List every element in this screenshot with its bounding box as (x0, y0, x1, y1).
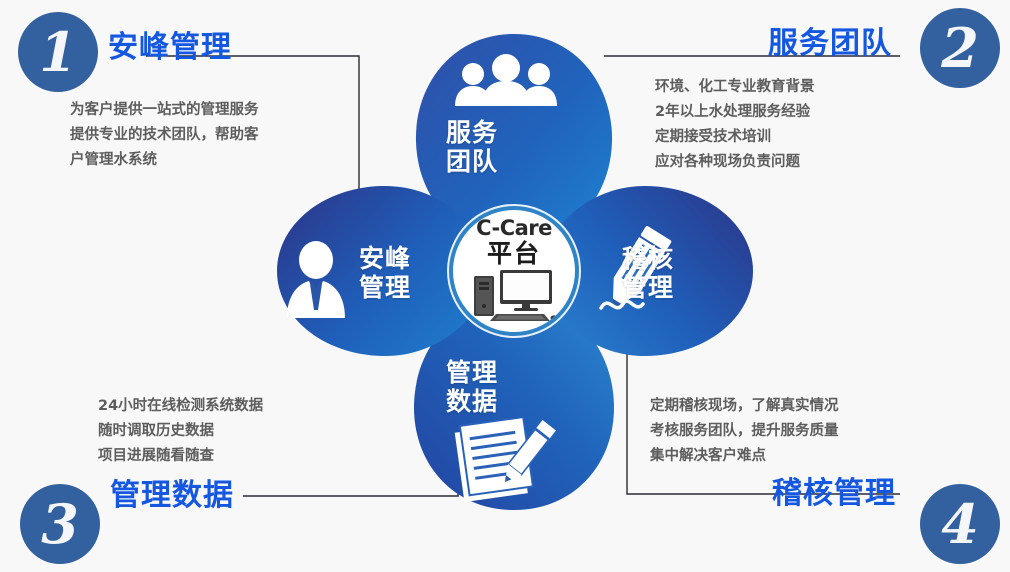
badge-number-text: 4 (941, 497, 979, 551)
body-line: 项目进展随看随查 (98, 444, 263, 469)
step-number-badge-1: 1 (18, 12, 98, 92)
central-flower-diagram: 服务 团队 稽核 管理 管理 数据 安峰 管理 C-Care 平台 (255, 18, 775, 518)
quadrant-title-2: 服务团队 (768, 18, 892, 62)
quadrant-title-1: 安峰管理 (108, 22, 232, 66)
quadrant-title-3: 管理数据 (110, 470, 234, 514)
desktop-computer-icon (470, 268, 558, 322)
quadrant-body-1: 为客户提供一站式的管理服务提供专业的技术团队，帮助客户管理水系统 (70, 98, 259, 173)
quadrant-title-4: 稽核管理 (772, 468, 896, 512)
center-hub: C-Care 平台 (449, 206, 579, 336)
badge-number-text: 1 (39, 25, 77, 79)
step-number-badge-3: 3 (20, 484, 100, 564)
hub-title: C-Care (476, 218, 552, 239)
body-line: 随时调取历史数据 (98, 419, 263, 444)
quadrant-body-3: 24小时在线检测系统数据随时调取历史数据项目进展随看随查 (98, 394, 263, 469)
body-line: 为客户提供一站式的管理服务 (70, 98, 259, 123)
body-line: 24小时在线检测系统数据 (98, 394, 263, 419)
hub-subtitle: 平台 (487, 240, 541, 267)
body-line: 户管理水系统 (70, 148, 259, 173)
infographic-canvas: 1 2 3 4 安峰管理 服务团队 管理数据 稽核管理 为客户提供一站式的管理服… (0, 0, 1010, 572)
step-number-badge-4: 4 (920, 484, 1000, 564)
body-line: 提供专业的技术团队，帮助客 (70, 123, 259, 148)
badge-number-text: 3 (41, 497, 79, 551)
step-number-badge-2: 2 (920, 8, 1000, 88)
badge-number-text: 2 (941, 21, 979, 75)
